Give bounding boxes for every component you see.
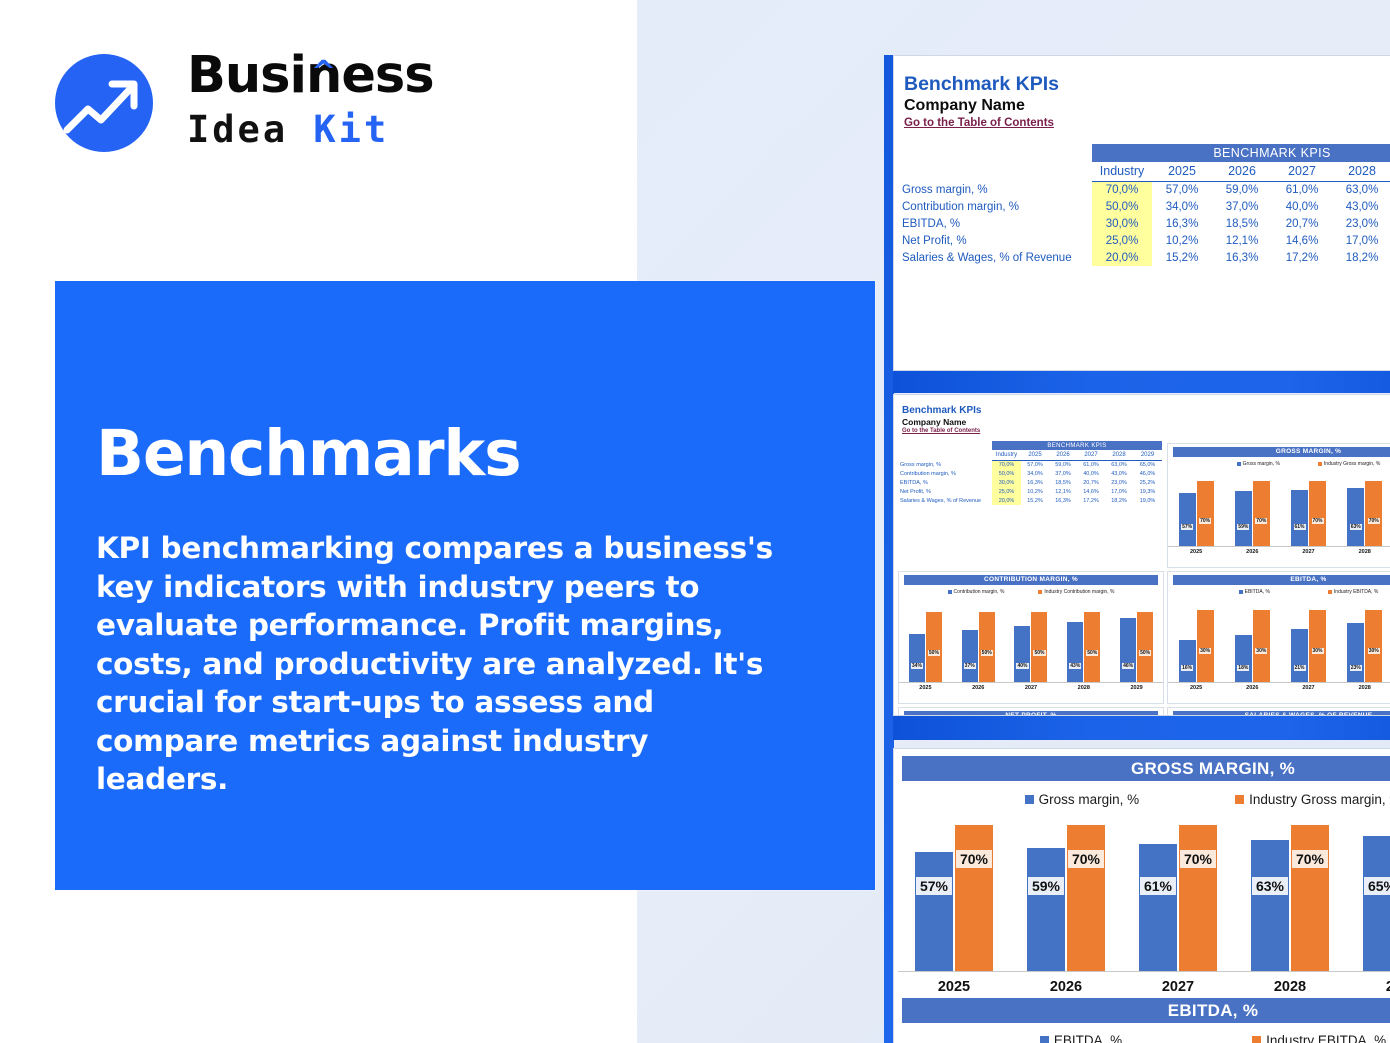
legend-item-series-1: EBITDA, %	[1239, 589, 1270, 595]
cell-2029: 46,0%	[1133, 469, 1162, 478]
card-separator-1	[893, 369, 1390, 393]
bar-value-label: 50%	[1086, 650, 1098, 656]
bar-value-label: 61%	[1293, 524, 1305, 530]
bar-industry: 70%	[1309, 481, 1326, 546]
bar-group: 61% 70%	[1122, 825, 1234, 971]
sheet-1-header: Benchmark KPIs Company Name Go to the Ta…	[894, 56, 1390, 131]
bar-industry: 50%	[1084, 612, 1100, 682]
bar-value-label: 70%	[1068, 850, 1104, 868]
chart-gross-margin-large[interactable]: GROSS MARGIN, % Gross margin, % Industry…	[898, 753, 1390, 1018]
bar-value-label: 57%	[1181, 524, 1193, 530]
cell-2025: 16,3%	[1021, 478, 1049, 487]
cell-industry: 20,0%	[992, 496, 1021, 505]
chart-plot-area: 34% 50% 37% 50% 40% 50% 43%	[899, 600, 1163, 682]
legend-item-series-2: Industry Contribution margin, %	[1038, 589, 1114, 595]
bar-value-label: 70%	[1199, 518, 1211, 524]
col-2025: 2025	[1021, 450, 1049, 460]
col-2028: 2028	[1332, 162, 1390, 181]
legend-label: Industry Gross margin, %	[1249, 792, 1390, 807]
bar-industry: 70%	[1365, 481, 1382, 546]
chart-contribution-margin-mini[interactable]: CONTRIBUTION MARGIN, % Contribution marg…	[898, 571, 1164, 704]
bar-group: 34% 50%	[899, 600, 952, 682]
chart-plot-area: 57% 70% 59% 70%	[898, 825, 1390, 971]
chart-plot-area: 57% 70% 59% 70% 61% 70% 63%	[1168, 472, 1390, 546]
chart-title: EBITDA, %	[1173, 575, 1390, 585]
chart-legend: Gross margin, % Industry Gross margin, %	[898, 792, 1390, 807]
cell-2026: 37,0%	[1049, 469, 1077, 478]
row-label: EBITDA, %	[900, 478, 992, 487]
chart-gross-margin-mini[interactable]: GROSS MARGIN, % Gross margin, % Industry…	[1167, 443, 1390, 568]
bar-group: 61% 70%	[1280, 472, 1336, 546]
bar-value-label: 18%	[1237, 665, 1249, 671]
cell-2027: 17,2%	[1272, 249, 1332, 266]
row-label: Net Profit, %	[902, 232, 1092, 249]
bar-value-label: 63%	[1252, 877, 1288, 895]
bar-value-label: 59%	[1237, 524, 1249, 530]
row-label: Contribution margin, %	[902, 198, 1092, 215]
chart-title: CONTRIBUTION MARGIN, %	[904, 575, 1158, 585]
cell-2028: 17,0%	[1332, 232, 1390, 249]
row-label: Contribution margin, %	[900, 469, 992, 478]
table-of-contents-link[interactable]: Go to the Table of Contents	[904, 116, 1390, 131]
x-tick: 2026	[1224, 549, 1280, 555]
legend-swatch-blue-icon	[1040, 1036, 1049, 1043]
cell-2029: 19,3%	[1133, 487, 1162, 496]
bar-value-label: 50%	[928, 650, 940, 656]
table-of-contents-link[interactable]: Go to the Table of Contents	[902, 427, 1390, 435]
legend-label: Industry EBITDA, %	[1334, 589, 1378, 595]
col-2029: 2029	[1133, 450, 1162, 460]
bar-group: 57% 70%	[1168, 472, 1224, 546]
bar-group: 57% 70%	[898, 825, 1010, 971]
cell-2028: 17,0%	[1105, 487, 1133, 496]
brand-idea-text: Idea	[187, 108, 288, 151]
bar-industry: 70%	[955, 825, 993, 971]
table-row: EBITDA, % 30,0% 16,3% 18,5% 20,7% 23,0% …	[900, 478, 1162, 487]
hero-description: KPI benchmarking compares a business's k…	[96, 529, 776, 799]
chart-legend: Contribution margin, % Industry Contribu…	[899, 589, 1163, 595]
x-tick: 2029	[1346, 979, 1390, 995]
sheet-3: GROSS MARGIN, % Gross margin, % Industry…	[894, 749, 1390, 1043]
bar-value-label: 43%	[1069, 663, 1081, 669]
table-row: Salaries & Wages, % of Revenue 20,0% 15,…	[902, 249, 1390, 266]
x-tick: 2027	[1280, 685, 1336, 691]
cell-2027: 40,0%	[1272, 198, 1332, 215]
legend-swatch-orange-icon	[1318, 462, 1322, 466]
bar-group: 23% 30%	[1337, 600, 1390, 682]
col-2027: 2027	[1077, 450, 1105, 460]
col-2026: 2026	[1212, 162, 1272, 181]
table-row: Gross margin, % 70,0% 57,0% 59,0% 61,0% …	[902, 181, 1390, 198]
col-industry: Industry	[1092, 162, 1152, 181]
cell-2027: 20,7%	[1272, 215, 1332, 232]
cell-2027: 40,0%	[1077, 469, 1105, 478]
bar-industry: 30%	[1253, 610, 1270, 682]
bar-value-label: 70%	[1180, 850, 1216, 868]
brand-name-business: Business ^	[187, 48, 434, 104]
x-tick: 2028	[1337, 549, 1390, 555]
bar-group: 59% 70%	[1224, 472, 1280, 546]
legend-swatch-orange-icon	[1252, 1036, 1261, 1043]
chart-title: NET PROFIT, %	[904, 711, 1158, 716]
bar-value-label: 70%	[1311, 518, 1323, 524]
sheet-1: Benchmark KPIs Company Name Go to the Ta…	[894, 56, 1390, 370]
cell-2026: 12,1%	[1212, 232, 1272, 249]
cell-2026: 18,5%	[1049, 478, 1077, 487]
bar-industry: 50%	[1137, 612, 1153, 682]
cell-2029: 19,0%	[1133, 496, 1162, 505]
bar-industry: 50%	[1031, 612, 1047, 682]
legend-item-series-1: Gross margin, %	[1237, 461, 1280, 467]
chart-legend: EBITDA, % Industry EBITDA, %	[1168, 589, 1390, 595]
bar-industry: 70%	[1067, 825, 1105, 971]
bar-value-label: 30%	[1368, 648, 1380, 654]
bar-company: 23%	[1347, 623, 1364, 682]
cell-2028: 23,0%	[1105, 478, 1133, 487]
x-tick: 2027	[1122, 979, 1234, 995]
bar-company: 63%	[1251, 840, 1289, 971]
bar-group: 18% 30%	[1224, 600, 1280, 682]
cell-2026: 16,3%	[1212, 249, 1272, 266]
bar-company: 18%	[1235, 635, 1252, 682]
bar-company: 61%	[1139, 844, 1177, 971]
legend-item-series-1: Gross margin, %	[1025, 792, 1140, 807]
bar-value-label: 46%	[1122, 663, 1134, 669]
x-tick: 2029	[1110, 685, 1163, 691]
cell-2027: 14,6%	[1272, 232, 1332, 249]
bar-group: 46% 50%	[1110, 600, 1163, 682]
legend-swatch-orange-icon	[1328, 590, 1332, 594]
spreadsheet-card-dashboard[interactable]: Benchmark KPIs Company Name Go to the Ta…	[893, 394, 1390, 716]
bar-groups: 57% 70% 59% 70%	[898, 825, 1390, 971]
col-2025: 2025	[1152, 162, 1212, 181]
legend-label: Gross margin, %	[1243, 461, 1280, 467]
col-2028: 2028	[1105, 450, 1133, 460]
brand-name-ideakit: Idea Kit	[187, 106, 434, 154]
sheet-title: Benchmark KPIs	[902, 405, 1390, 417]
growth-arrow-chart-icon	[55, 54, 153, 152]
cell-2026: 59,0%	[1212, 181, 1272, 198]
brand-kit-text: Kit	[313, 108, 389, 151]
legend-label: Gross margin, %	[1039, 792, 1140, 807]
cell-industry: 70,0%	[1092, 181, 1152, 198]
bar-group: 21% 30%	[1280, 600, 1336, 682]
bar-company: 37%	[962, 630, 978, 682]
bar-value-label: 37%	[964, 663, 976, 669]
x-tick: 2026	[1224, 685, 1280, 691]
bar-value-label: 30%	[1311, 648, 1323, 654]
cell-2026: 37,0%	[1212, 198, 1272, 215]
cell-2025: 57,0%	[1152, 181, 1212, 198]
legend-item-series-2: Industry Gross margin, %	[1235, 792, 1390, 807]
sheet-2: Benchmark KPIs Company Name Go to the Ta…	[894, 395, 1390, 715]
sheet-title: Benchmark KPIs	[904, 73, 1390, 96]
bar-company: 61%	[1291, 490, 1308, 546]
bar-industry: 70%	[1291, 825, 1329, 971]
bar-company: 16%	[1179, 640, 1196, 682]
cell-industry: 30,0%	[1092, 215, 1152, 232]
bar-value-label: 70%	[956, 850, 992, 868]
chart-title: SALARIES & WAGES, % OF REVENUE	[1173, 711, 1390, 716]
table-row: Contribution margin, % 50,0% 34,0% 37,0%…	[900, 469, 1162, 478]
x-tick: 2025	[899, 685, 952, 691]
table-banner: BENCHMARK KPIS	[992, 441, 1162, 450]
bar-groups: 57% 70% 59% 70% 61% 70% 63%	[1168, 472, 1390, 546]
bar-industry: 30%	[1309, 610, 1326, 682]
bar-company: 57%	[1179, 493, 1196, 546]
chart-legend: Gross margin, % Industry Gross margin, %	[1168, 461, 1390, 467]
table-banner-row: BENCHMARK KPIS	[902, 144, 1390, 162]
cell-2025: 10,2%	[1021, 487, 1049, 496]
cell-2025: 16,3%	[1152, 215, 1212, 232]
cell-2027: 17,2%	[1077, 496, 1105, 505]
bar-value-label: 16%	[1181, 665, 1193, 671]
bar-value-label: 40%	[1016, 663, 1028, 669]
bar-value-label: 30%	[1199, 648, 1211, 654]
page-title: Benchmarks	[96, 421, 520, 487]
bar-company: 34%	[909, 634, 925, 682]
cell-2028: 63,0%	[1105, 460, 1133, 469]
chart-title: EBITDA, %	[902, 998, 1390, 1023]
bar-value-label: 70%	[1292, 850, 1328, 868]
bar-value-label: 65%	[1364, 877, 1390, 895]
cell-2027: 14,6%	[1077, 487, 1105, 496]
table-row: Salaries & Wages, % of Revenue 20,0% 15,…	[900, 496, 1162, 505]
table-row: Net Profit, % 25,0% 10,2% 12,1% 14,6% 17…	[902, 232, 1390, 249]
chart-x-axis: 2025 2026 2027 2028 2029	[898, 979, 1390, 995]
legend-label: EBITDA, %	[1054, 1033, 1122, 1043]
bar-industry: 70%	[1253, 481, 1270, 546]
bar-group: 65% 70%	[1346, 825, 1390, 971]
chart-salaries-wages-mini[interactable]: SALARIES & WAGES, % OF REVENUE Salaries …	[1167, 707, 1390, 716]
cell-industry: 25,0%	[992, 487, 1021, 496]
cell-industry: 30,0%	[992, 478, 1021, 487]
bar-groups: 34% 50% 37% 50% 40% 50% 43%	[899, 600, 1163, 682]
hero-panel: Benchmarks KPI benchmarking compares a b…	[55, 281, 875, 890]
legend-swatch-blue-icon	[1237, 462, 1241, 466]
bar-value-label: 70%	[1255, 518, 1267, 524]
table-row: EBITDA, % 30,0% 16,3% 18,5% 20,7% 23,0% …	[902, 215, 1390, 232]
sheet-subtitle: Company Name	[904, 96, 1390, 116]
legend-item-series-2: Industry Gross margin, %	[1318, 461, 1380, 467]
row-label: Gross margin, %	[900, 460, 992, 469]
cell-2029: 65,0%	[1133, 460, 1162, 469]
spreadsheet-card-gross-margin-chart[interactable]: GROSS MARGIN, % Gross margin, % Industry…	[893, 748, 1390, 1043]
legend-label: Industry Contribution margin, %	[1044, 589, 1114, 595]
cell-2027: 61,0%	[1077, 460, 1105, 469]
bar-company: 46%	[1120, 618, 1136, 682]
legend-swatch-blue-icon	[1239, 590, 1243, 594]
bar-industry: 70%	[1197, 481, 1214, 546]
bar-company: 59%	[1027, 848, 1065, 971]
legend-item-series-1: EBITDA, %	[1040, 1033, 1122, 1043]
row-label: Net Profit, %	[900, 487, 992, 496]
cell-2026: 12,1%	[1049, 487, 1077, 496]
cell-2028: 18,2%	[1105, 496, 1133, 505]
legend-label: Industry Gross margin, %	[1324, 461, 1380, 467]
bar-group: 16% 30%	[1168, 600, 1224, 682]
sheet-2-header: Benchmark KPIs Company Name Go to the Ta…	[894, 395, 1390, 435]
slide-canvas: Business ^ Idea Kit Benchmarks KPI bench…	[0, 0, 1390, 1043]
x-tick: 2026	[1010, 979, 1122, 995]
bar-value-label: 30%	[1255, 648, 1267, 654]
cell-2025: 57,0%	[1021, 460, 1049, 469]
bar-company: 57%	[915, 852, 953, 971]
row-label: EBITDA, %	[902, 215, 1092, 232]
chart-legend: EBITDA, % Industry EBITDA, %	[898, 1033, 1390, 1043]
cell-2028: 63,0%	[1332, 181, 1390, 198]
legend-swatch-blue-icon	[1025, 795, 1034, 804]
chart-ebitda-mini[interactable]: EBITDA, % EBITDA, % Industry EBITDA, % 1…	[1167, 571, 1390, 704]
cell-2025: 10,2%	[1152, 232, 1212, 249]
cell-2025: 15,2%	[1021, 496, 1049, 505]
legend-item-series-2: Industry EBITDA, %	[1328, 589, 1378, 595]
cell-industry: 25,0%	[1092, 232, 1152, 249]
cell-2026: 59,0%	[1049, 460, 1077, 469]
legend-label: EBITDA, %	[1245, 589, 1270, 595]
legend-swatch-orange-icon	[1235, 795, 1244, 804]
x-tick: 2025	[1168, 685, 1224, 691]
cell-industry: 70,0%	[992, 460, 1021, 469]
legend-item-series-2: Industry EBITDA, %	[1252, 1033, 1386, 1043]
cell-2027: 61,0%	[1272, 181, 1332, 198]
bar-value-label: 34%	[911, 663, 923, 669]
bar-group: 40% 50%	[1005, 600, 1058, 682]
chart-x-axis: 2025 2026 2027 2028 2029	[1168, 685, 1390, 691]
cell-2026: 16,3%	[1049, 496, 1077, 505]
bar-industry: 30%	[1365, 610, 1382, 682]
cell-2027: 20,7%	[1077, 478, 1105, 487]
legend-label: Industry EBITDA, %	[1266, 1033, 1386, 1043]
bar-industry: 70%	[1179, 825, 1217, 971]
kpi-table: BENCHMARK KPIS Industry 2025 2026 2027 2…	[902, 144, 1390, 266]
row-label: Salaries & Wages, % of Revenue	[902, 249, 1092, 266]
bar-group: 63% 70%	[1234, 825, 1346, 971]
x-tick: 2025	[1168, 549, 1224, 555]
table-header-row: Industry 2025 2026 2027 2028 2029	[902, 162, 1390, 181]
chart-x-axis: 2025 2026 2027 2028 2029	[1168, 549, 1390, 555]
table-banner: BENCHMARK KPIS	[1092, 144, 1390, 162]
x-tick: 2026	[952, 685, 1005, 691]
bar-company: 59%	[1235, 491, 1252, 546]
table-row: Net Profit, % 25,0% 10,2% 12,1% 14,6% 17…	[900, 487, 1162, 496]
chart-x-axis: 2025 2026 2027 2028 2029	[899, 685, 1163, 691]
legend-swatch-orange-icon	[1038, 590, 1042, 594]
cell-2028: 18,2%	[1332, 249, 1390, 266]
bar-groups: 16% 30% 18% 30% 21% 30% 23%	[1168, 600, 1390, 682]
cell-industry: 50,0%	[1092, 198, 1152, 215]
bar-company: 43%	[1067, 622, 1083, 682]
cell-2025: 15,2%	[1152, 249, 1212, 266]
bar-group: 43% 50%	[1057, 600, 1110, 682]
kpi-table-mini: BENCHMARK KPIS Industry 2025 2026 2027 2…	[900, 441, 1162, 505]
legend-swatch-blue-icon	[948, 590, 952, 594]
row-label: Gross margin, %	[902, 181, 1092, 198]
legend-item-series-1: Contribution margin, %	[948, 589, 1005, 595]
chart-title: GROSS MARGIN, %	[902, 756, 1390, 781]
bar-value-label: 50%	[1139, 650, 1151, 656]
spreadsheet-card-kpi-table[interactable]: Benchmark KPIs Company Name Go to the Ta…	[893, 55, 1390, 371]
bar-group: 37% 50%	[952, 600, 1005, 682]
bar-industry: 50%	[979, 612, 995, 682]
bar-value-label: 21%	[1293, 665, 1305, 671]
brand-wordmark: Business ^ Idea Kit	[187, 48, 434, 154]
bar-company: 65%	[1363, 836, 1390, 971]
x-tick: 2028	[1057, 685, 1110, 691]
col-2026: 2026	[1049, 450, 1077, 460]
col-2027: 2027	[1272, 162, 1332, 181]
bar-value-label: 61%	[1140, 877, 1176, 895]
x-tick: 2025	[898, 979, 1010, 995]
bar-value-label: 59%	[1028, 877, 1064, 895]
bar-value-label: 57%	[916, 877, 952, 895]
x-tick: 2027	[1005, 685, 1058, 691]
table-header-row: Industry 2025 2026 2027 2028 2029	[900, 450, 1162, 460]
bar-industry: 30%	[1197, 610, 1214, 682]
table-row: Gross margin, % 70,0% 57,0% 59,0% 61,0% …	[900, 460, 1162, 469]
bar-value-label: 50%	[1033, 650, 1045, 656]
chart-ebitda-large[interactable]: EBITDA, % EBITDA, % Industry EBITDA, %	[898, 995, 1390, 1043]
cell-industry: 20,0%	[1092, 249, 1152, 266]
chart-title: GROSS MARGIN, %	[1173, 447, 1390, 457]
bar-company: 40%	[1014, 626, 1030, 682]
chart-plot-area: 16% 30% 18% 30% 21% 30% 23%	[1168, 600, 1390, 682]
circumflex-accent-icon: ^	[311, 45, 335, 101]
cell-2028: 43,0%	[1332, 198, 1390, 215]
bar-value-label: 50%	[981, 650, 993, 656]
bar-company: 21%	[1291, 629, 1308, 682]
cell-industry: 50,0%	[992, 469, 1021, 478]
cell-2025: 34,0%	[1152, 198, 1212, 215]
cell-2025: 34,0%	[1021, 469, 1049, 478]
x-tick: 2028	[1234, 979, 1346, 995]
table-row: Contribution margin, % 50,0% 34,0% 37,0%…	[902, 198, 1390, 215]
card-separator-2	[893, 716, 1390, 740]
sheet-subtitle: Company Name	[902, 417, 1390, 427]
row-label: Salaries & Wages, % of Revenue	[900, 496, 992, 505]
cell-2028: 43,0%	[1105, 469, 1133, 478]
table-banner-row: BENCHMARK KPIS	[900, 441, 1162, 450]
bar-value-label: 63%	[1350, 524, 1362, 530]
x-tick: 2027	[1280, 549, 1336, 555]
col-industry: Industry	[992, 450, 1021, 460]
bar-company: 63%	[1347, 488, 1364, 546]
bar-group: 63% 70%	[1337, 472, 1390, 546]
cell-2026: 18,5%	[1212, 215, 1272, 232]
x-tick: 2028	[1337, 685, 1390, 691]
bar-value-label: 23%	[1350, 665, 1362, 671]
legend-label: Contribution margin, %	[954, 589, 1005, 595]
chart-net-profit-mini[interactable]: NET PROFIT, % Net Profit, % Industry Net…	[898, 707, 1164, 716]
bar-group: 59% 70%	[1010, 825, 1122, 971]
bar-value-label: 70%	[1368, 518, 1380, 524]
cell-2029: 25,2%	[1133, 478, 1162, 487]
bar-industry: 50%	[926, 612, 942, 682]
brand-logo: Business ^ Idea Kit	[55, 48, 455, 166]
cell-2028: 23,0%	[1332, 215, 1390, 232]
